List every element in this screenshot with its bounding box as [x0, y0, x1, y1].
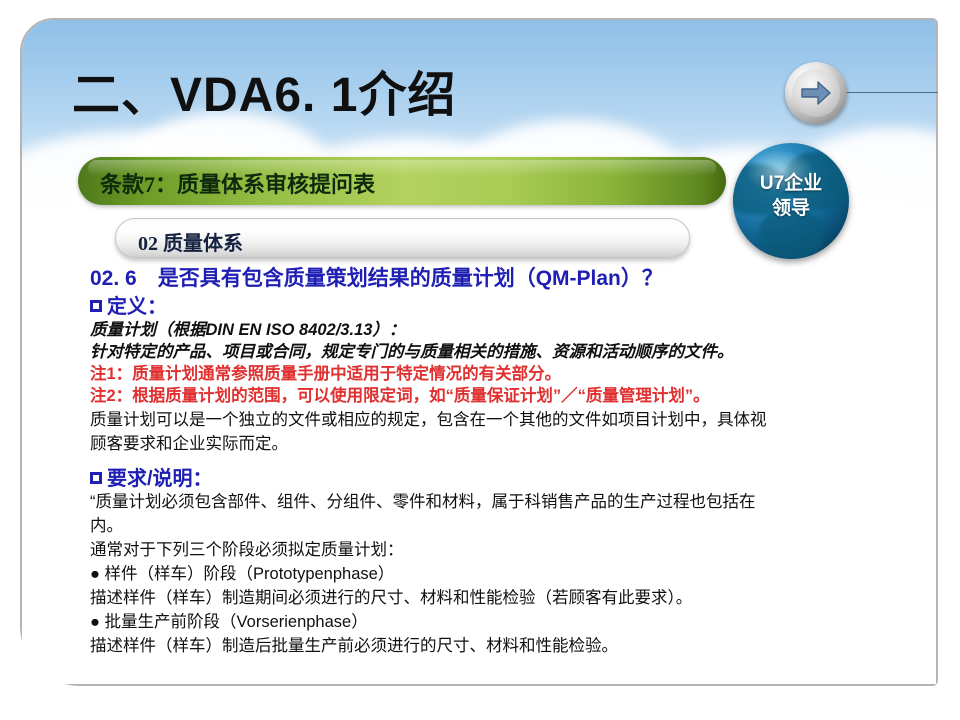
- requirement-heading-label: 要求/说明：: [107, 468, 213, 490]
- definition-line: 质量计划可以是一个独立的文件或相应的规定，包含在一个其他的文件如项目计划中，具体…: [90, 410, 767, 431]
- requirement-line: 描述样件（样车）制造期间必须进行的尺寸、材料和性能检验（若顾客有此要求）。: [90, 588, 692, 609]
- globe-badge-line2: 领导: [733, 196, 849, 221]
- definition-line: 注1：质量计划通常参照质量手册中适用于特定情况的有关部分。: [90, 364, 561, 385]
- section-banner: 条款7：质量体系审核提问表: [78, 157, 726, 205]
- requirement-heading: 要求/说明：: [90, 462, 213, 491]
- requirement-line: 内。: [90, 516, 123, 537]
- requirement-line: 通常对于下列三个阶段必须拟定质量计划：: [90, 540, 404, 561]
- definition-line: 质量计划（根据DIN EN ISO 8402/3.13）：: [90, 320, 405, 341]
- section-banner-label: 条款7：质量体系审核提问表: [100, 167, 375, 199]
- slide-root: 二、VDA6. 1介绍 条款7：质量体系审核提问表 02 质量体系 U7企业 领…: [0, 0, 960, 720]
- definition-heading: 定义：: [90, 290, 167, 319]
- definition-line: 顾客要求和企业实际而定。: [90, 434, 288, 455]
- header-rule: [843, 92, 938, 93]
- globe-badge: U7企业 领导: [733, 143, 849, 259]
- requirement-line: 描述样件（样车）制造后批量生产前必须进行的尺寸、材料和性能检验。: [90, 636, 618, 657]
- square-bullet-icon: [90, 300, 102, 312]
- question-heading: 02. 6 是否具有包含质量策划结果的质量计划（QM-Plan）？: [90, 262, 663, 292]
- definition-line: 针对特定的产品、项目或合同，规定专门的与质量相关的措施、资源和活动顺序的文件。: [90, 342, 734, 363]
- subsection-pill: 02 质量体系: [115, 218, 690, 258]
- requirement-line: “质量计划必须包含部件、组件、分组件、零件和材料，属于科销售产品的生产过程也包括…: [90, 492, 756, 513]
- requirement-line: ● 批量生产前阶段（Vorserienphase）: [90, 612, 368, 633]
- definition-heading-label: 定义：: [107, 296, 167, 318]
- definition-line: 注2：根据质量计划的范围，可以使用限定词，如“质量保证计划”／“质量管理计划”。: [90, 386, 710, 407]
- globe-badge-line1: U7企业: [733, 171, 849, 196]
- globe-badge-text: U7企业 领导: [733, 171, 849, 221]
- next-arrow-button[interactable]: [785, 62, 847, 124]
- square-bullet-icon: [90, 472, 102, 484]
- arrow-right-icon: [792, 69, 840, 117]
- subsection-pill-label: 02 质量体系: [138, 227, 243, 256]
- slide-content: 02. 6 是否具有包含质量策划结果的质量计划（QM-Plan）？ 定义： 质量…: [22, 252, 936, 684]
- page-title: 二、VDA6. 1介绍: [72, 55, 456, 125]
- requirement-line: ● 样件（样车）阶段（Prototypenphase）: [90, 564, 394, 585]
